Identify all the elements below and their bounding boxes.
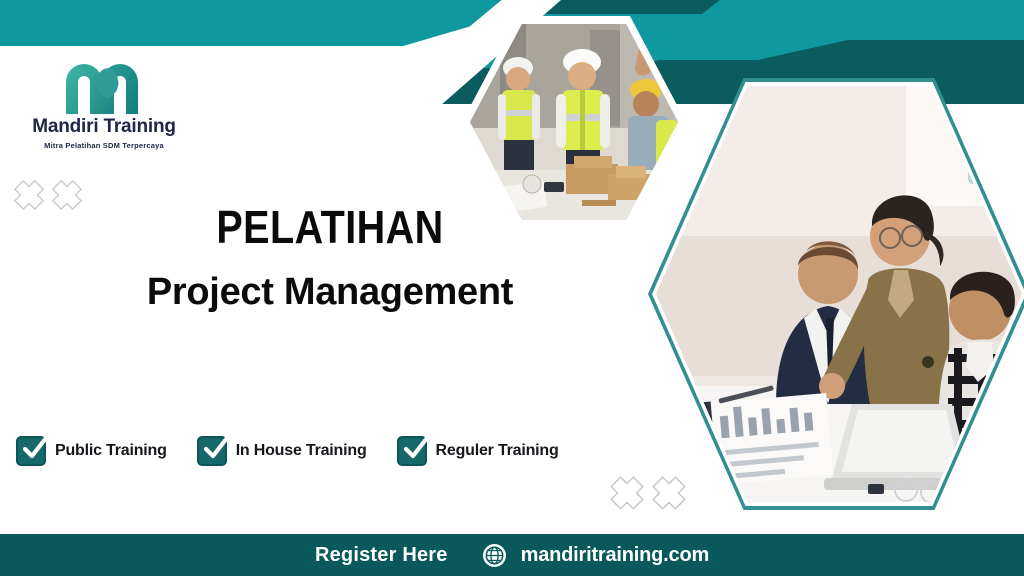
register-here-label: Register Here: [315, 544, 448, 567]
footer-bar: Register Here mandiritraining.com: [0, 534, 1024, 576]
x-cross-decoration-icon: [608, 474, 646, 512]
globe-icon: [482, 543, 507, 568]
training-option-public[interactable]: Public Training: [16, 436, 167, 466]
top-band-dark-strip: [700, 0, 1024, 16]
checkbox-checked-icon[interactable]: [397, 436, 427, 466]
brand-wordmark: Mandiri Training: [14, 116, 194, 138]
checkbox-checked-icon[interactable]: [16, 436, 46, 466]
training-option-label: Reguler Training: [436, 442, 559, 460]
x-cross-decoration-icon: [650, 474, 688, 512]
x-decoration-bottom: [608, 474, 688, 512]
headline-primary: PELATIHAN: [149, 204, 510, 250]
training-option-reguler[interactable]: Reguler Training: [397, 436, 559, 466]
x-cross-decoration-icon: [50, 178, 84, 212]
website-url: mandiritraining.com: [521, 544, 709, 567]
training-option-label: In House Training: [236, 442, 367, 460]
training-option-label: Public Training: [55, 442, 167, 460]
mandiri-monogram-icon: [58, 56, 150, 114]
promotional-banner: Mandiri Training Mitra Pelatihan SDM Ter…: [0, 0, 1024, 576]
x-decoration-left: [12, 178, 84, 212]
training-option-in-house[interactable]: In House Training: [197, 436, 367, 466]
brand-tagline: Mitra Pelatihan SDM Terpercaya: [14, 141, 194, 150]
top-band-teal-left: [0, 0, 560, 46]
website-link[interactable]: mandiritraining.com: [482, 543, 709, 568]
checkbox-checked-icon[interactable]: [197, 436, 227, 466]
brand-logo: Mandiri Training Mitra Pelatihan SDM Ter…: [14, 56, 194, 150]
business-team-meeting-photo: [656, 86, 1022, 502]
headline-group: PELATIHAN Project Management: [120, 204, 540, 311]
x-cross-decoration-icon: [12, 178, 46, 212]
training-options-row: Public Training In House Training Regule…: [16, 436, 559, 466]
headline-secondary: Project Management: [120, 273, 540, 311]
